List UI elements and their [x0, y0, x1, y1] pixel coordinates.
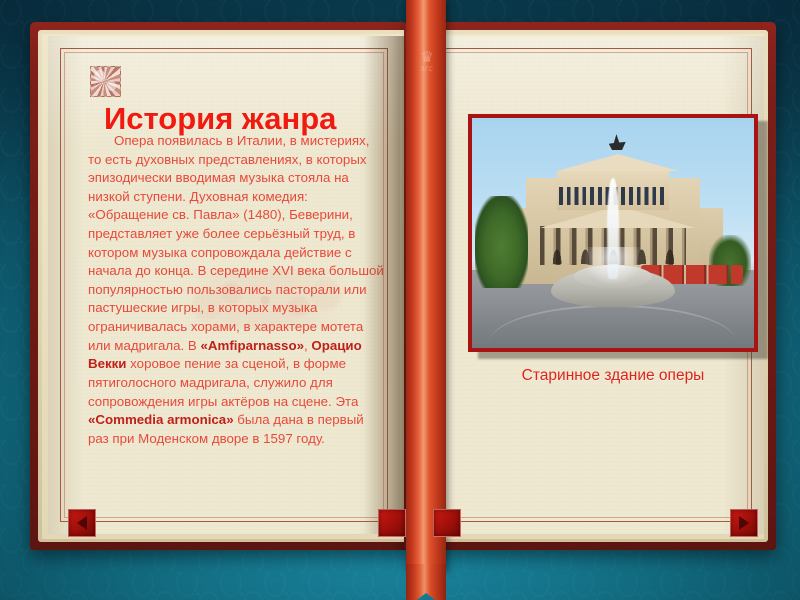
body-emphasis: «Amfiparnasso» — [201, 338, 304, 353]
photo-top-pediment — [557, 154, 679, 171]
body-paragraph: Опера появилась в Италии, в мистериях, т… — [88, 132, 384, 448]
ribbon-bookmark — [406, 0, 446, 572]
open-book: История жанра Опера появилась в Италии, … — [12, 8, 788, 560]
gutter-shadow-left — [364, 36, 404, 534]
page-title: История жанра — [104, 103, 400, 136]
opera-house-photo — [472, 118, 754, 348]
triangle-right-icon — [739, 516, 749, 530]
photo-fountain-jet — [607, 178, 618, 279]
next-slide-button[interactable] — [730, 509, 758, 537]
corner-marker-right-page[interactable] — [433, 509, 461, 537]
triangle-left-icon — [77, 516, 87, 530]
floral-corner-ornament-icon — [90, 66, 121, 97]
body-run: Опера появилась в Италии, в мистериях, т… — [88, 133, 384, 353]
photo-caption: Старинное здание оперы — [468, 366, 758, 386]
previous-slide-button[interactable] — [68, 509, 96, 537]
photo-tree-left — [475, 196, 529, 288]
opera-house-photo-frame — [468, 114, 758, 352]
book-page-left: История жанра Опера появилась в Италии, … — [48, 36, 400, 534]
slide-canvas: История жанра Опера появилась в Италии, … — [0, 0, 800, 600]
photo-roof-statue — [609, 134, 626, 150]
body-emphasis: «Commedia armonica» — [88, 412, 234, 427]
corner-marker-left-page[interactable] — [378, 509, 406, 537]
body-run: хоровое пение за сценой, в форме пятигол… — [88, 356, 358, 408]
left-page-content: История жанра Опера появилась в Италии, … — [70, 54, 382, 518]
